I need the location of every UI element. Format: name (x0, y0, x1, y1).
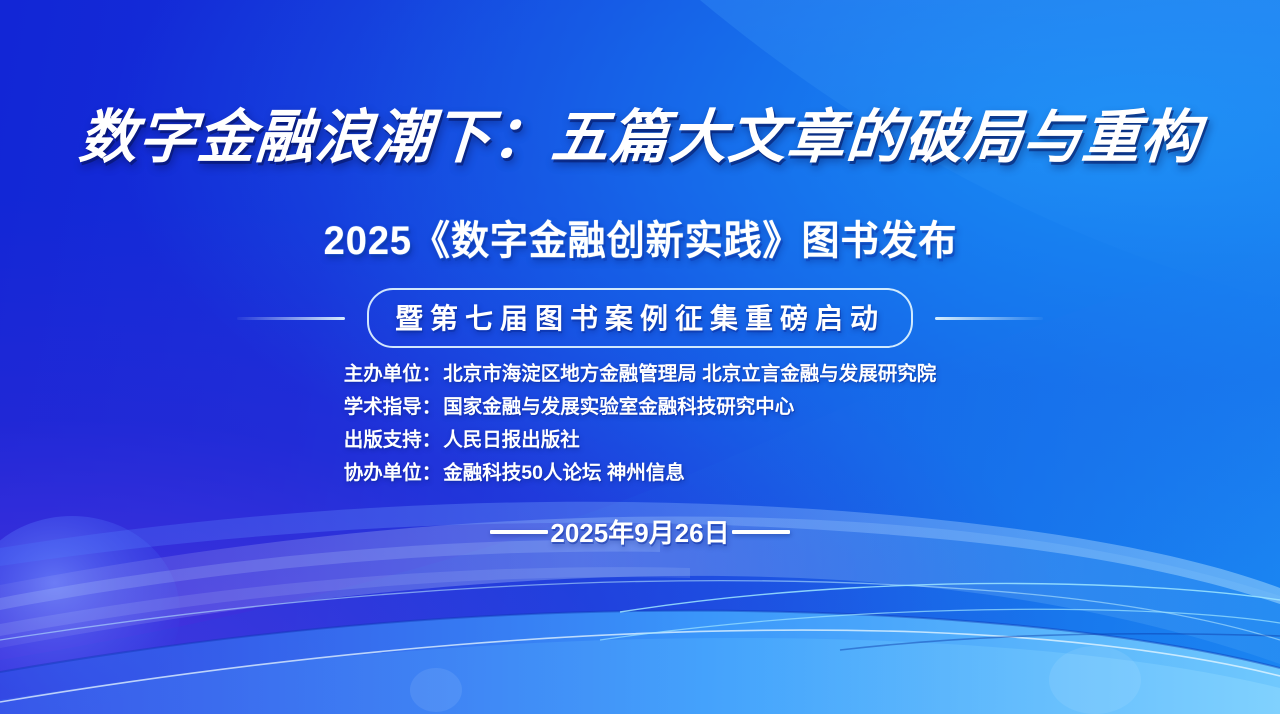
date-dash-left (490, 530, 548, 534)
main-title-container: 数字金融浪潮下：五篇大文章的破局与重构 (0, 108, 1280, 169)
pill-banner-row: 暨第七届图书案例征集重磅启动 (0, 288, 1280, 348)
info-line-publisher: 出版支持：人民日报出版社 (344, 424, 936, 457)
info-value-publisher: 人民日报出版社 (443, 429, 580, 451)
info-line-host: 主办单位：北京市海淀区地方金融管理局 北京立言金融与发展研究院 (344, 358, 936, 391)
info-line-coorganizer: 协办单位：金融科技50人论坛 神州信息 (344, 457, 936, 490)
info-label-host: 主办单位： (344, 363, 442, 385)
info-label-publisher: 出版支持： (344, 429, 442, 451)
poster-banner: 数字金融浪潮下：五篇大文章的破局与重构 2025《数字金融创新实践》图书发布 暨… (0, 0, 1280, 714)
info-label-coorganizer: 协办单位： (344, 462, 442, 484)
rule-right (935, 317, 1043, 320)
event-date: 2025年9月26日 (548, 513, 731, 550)
info-value-host: 北京市海淀区地方金融管理局 北京立言金融与发展研究院 (443, 363, 936, 385)
page-title: 数字金融浪潮下：五篇大文章的破局与重构 (77, 108, 1202, 169)
info-line-academic: 学术指导：国家金融与发展实验室金融科技研究中心 (344, 391, 936, 424)
event-date-row: 2025年9月26日 (0, 513, 1280, 550)
info-value-coorganizer: 金融科技50人论坛 神州信息 (443, 462, 685, 484)
organizer-info-block: 主办单位：北京市海淀区地方金融管理局 北京立言金融与发展研究院 学术指导：国家金… (0, 358, 1280, 490)
rule-left (237, 317, 345, 320)
date-dash-right (732, 530, 790, 534)
subtitle-container: 2025《数字金融创新实践》图书发布 (0, 208, 1280, 266)
pill-banner: 暨第七届图书案例征集重磅启动 (367, 288, 913, 348)
pill-banner-label: 暨第七届图书案例征集重磅启动 (395, 303, 885, 334)
info-value-academic: 国家金融与发展实验室金融科技研究中心 (443, 396, 794, 418)
info-label-academic: 学术指导： (344, 396, 442, 418)
page-subtitle: 2025《数字金融创新实践》图书发布 (323, 208, 957, 266)
